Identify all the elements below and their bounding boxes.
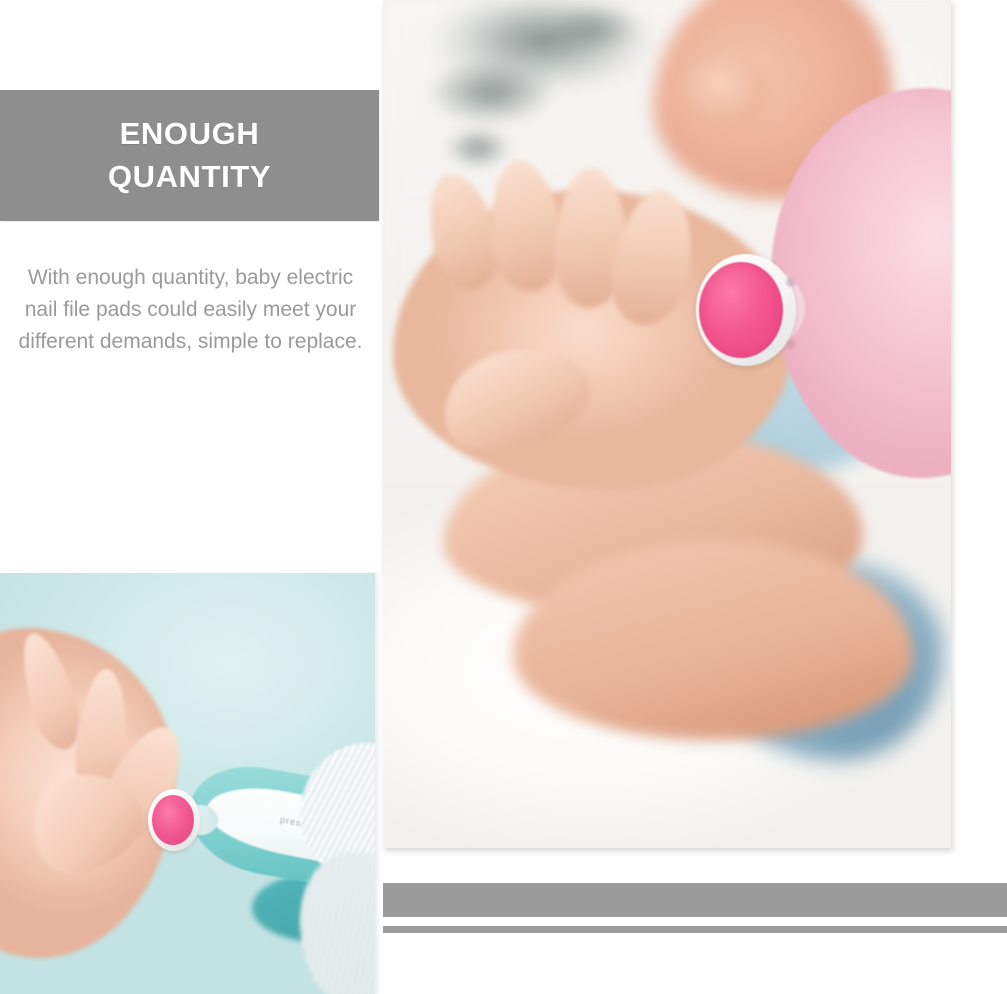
device-screw-bottom [787,340,796,349]
decorative-bar-thin [383,926,1007,933]
pink-nail-file-pad [699,262,783,358]
secondary-product-photo: press [0,573,375,994]
main-product-photo [383,0,951,848]
product-infographic-canvas: ENOUGH QUANTITY With enough quantity, ba… [0,0,1007,994]
headline-line-2: QUANTITY [108,156,271,198]
body-paragraph: With enough quantity, baby electric nail… [18,262,363,358]
sub-pink-nail-file-pad [152,795,194,845]
headline-line-1: ENOUGH [120,113,260,155]
device-screw-top [786,278,795,287]
baby-toe-shape [683,55,768,125]
decorative-bar-thick [383,883,1007,917]
headline-banner: ENOUGH QUANTITY [0,90,379,221]
